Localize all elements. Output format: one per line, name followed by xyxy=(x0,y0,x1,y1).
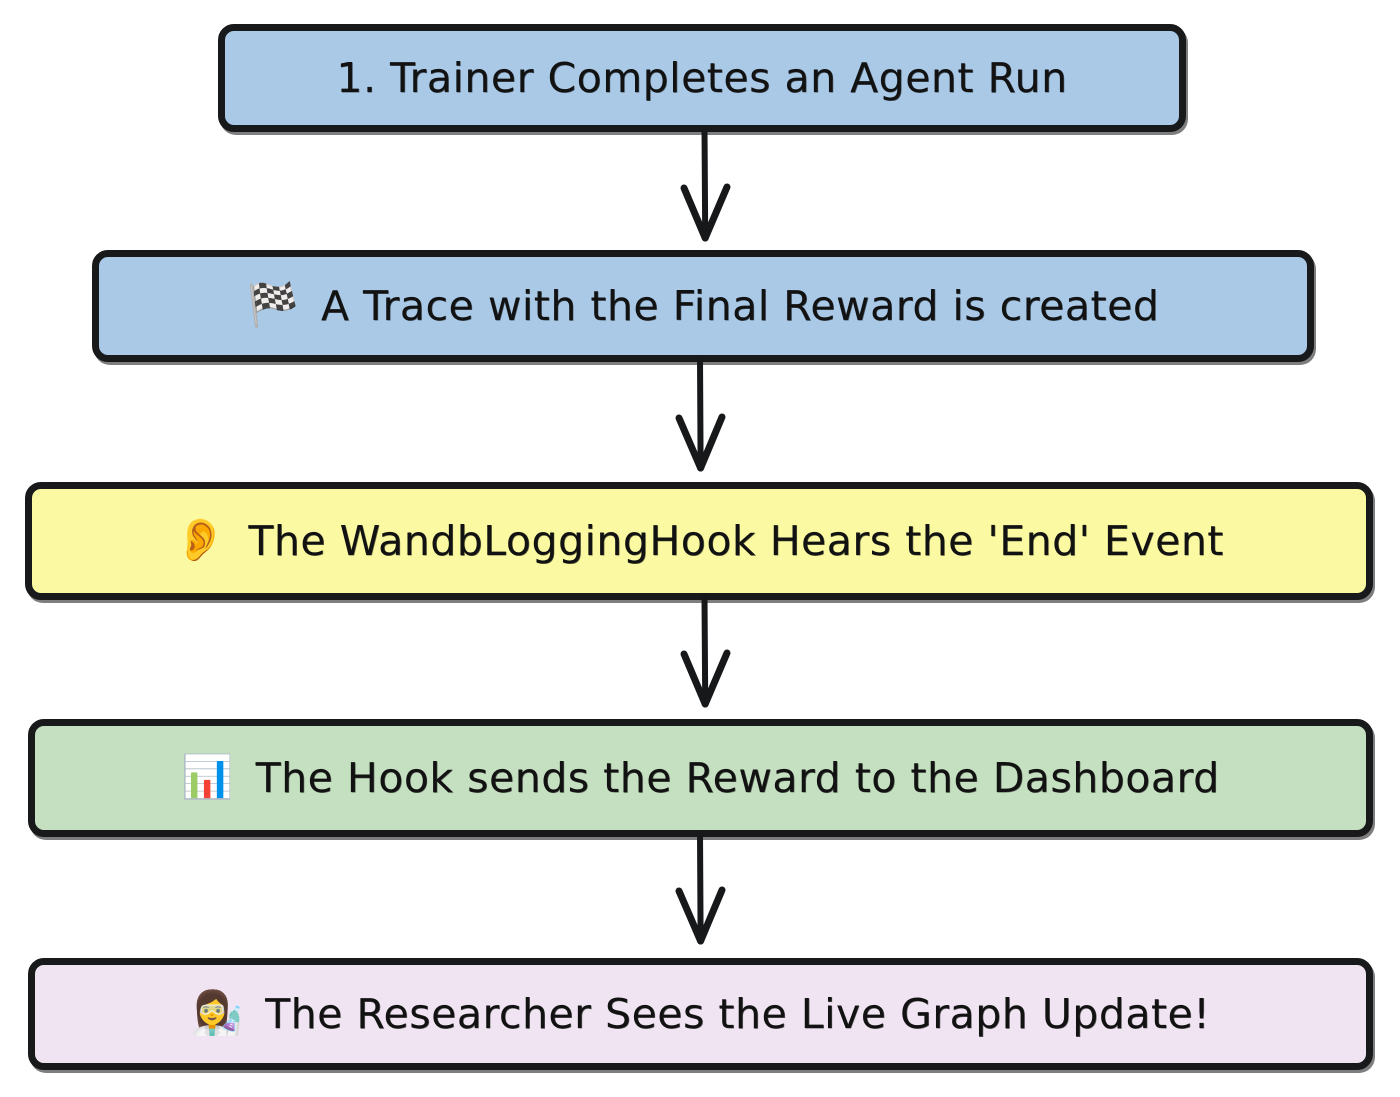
flow-node-label: The Hook sends the Reward to the Dashboa… xyxy=(256,754,1220,802)
flow-node-content: 🏁 A Trace with the Final Reward is creat… xyxy=(99,282,1307,330)
flow-arrow-1-to-2 xyxy=(660,128,750,256)
bar-chart-icon: 📊 xyxy=(181,756,233,798)
flow-node-content: 1. Trainer Completes an Agent Run xyxy=(225,54,1179,102)
flow-node-trainer-completes-run[interactable]: 1. Trainer Completes an Agent Run xyxy=(218,24,1186,132)
flow-node-hook-hears-end-event[interactable]: 👂 The WandbLoggingHook Hears the 'End' E… xyxy=(25,482,1373,600)
flow-arrow-4-to-5 xyxy=(655,833,745,963)
woman-scientist-icon: 👩‍🔬 xyxy=(191,992,243,1034)
flow-node-hook-sends-reward[interactable]: 📊 The Hook sends the Reward to the Dashb… xyxy=(28,719,1373,837)
flow-arrow-2-to-3 xyxy=(655,358,745,486)
flow-node-label: The WandbLoggingHook Hears the 'End' Eve… xyxy=(248,517,1224,565)
checkered-flag-icon: 🏁 xyxy=(247,284,299,326)
flow-node-label: The Researcher Sees the Live Graph Updat… xyxy=(265,990,1210,1038)
flow-node-content: 📊 The Hook sends the Reward to the Dashb… xyxy=(35,754,1366,802)
flow-node-researcher-sees-update[interactable]: 👩‍🔬 The Researcher Sees the Live Graph U… xyxy=(28,958,1373,1070)
flow-node-label: 1. Trainer Completes an Agent Run xyxy=(336,54,1067,102)
flow-arrow-3-to-4 xyxy=(660,596,750,724)
flow-node-trace-created[interactable]: 🏁 A Trace with the Final Reward is creat… xyxy=(92,250,1314,362)
flow-node-content: 👂 The WandbLoggingHook Hears the 'End' E… xyxy=(32,517,1366,565)
flow-node-content: 👩‍🔬 The Researcher Sees the Live Graph U… xyxy=(35,990,1366,1038)
flowchart-canvas: 1. Trainer Completes an Agent Run 🏁 A Tr… xyxy=(0,0,1400,1097)
flow-node-label: A Trace with the Final Reward is created xyxy=(321,282,1159,330)
ear-icon: 👂 xyxy=(174,519,226,561)
